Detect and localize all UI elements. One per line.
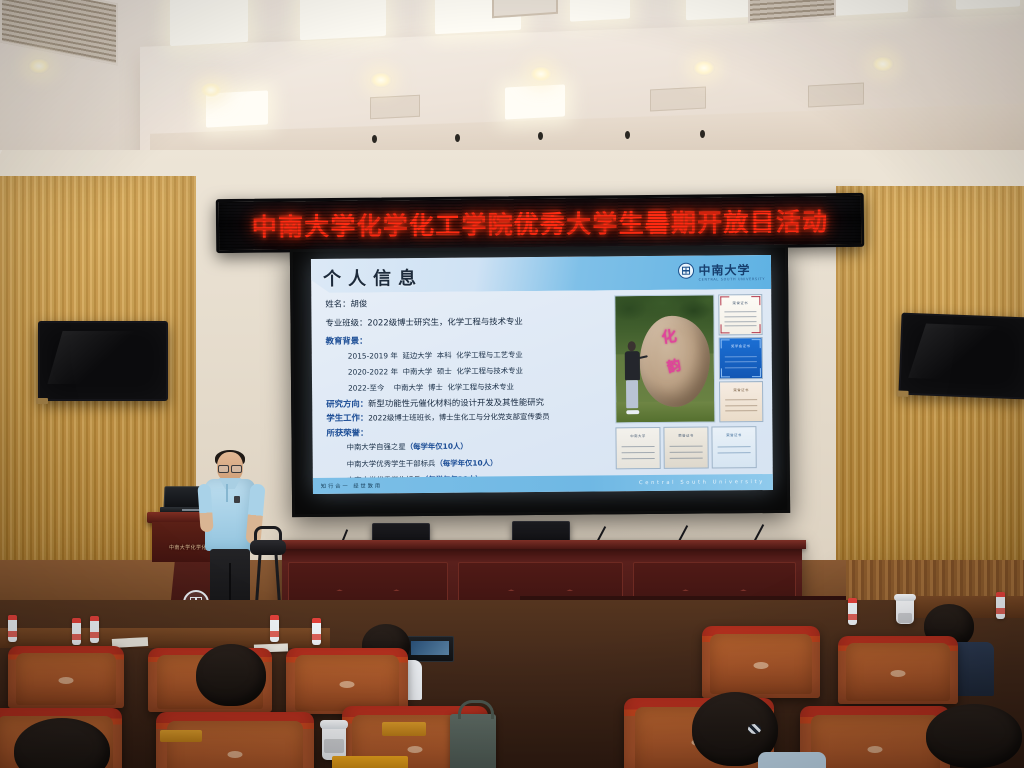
ceiling-panel-light xyxy=(570,0,630,22)
water-bottle xyxy=(270,615,279,642)
seat-logo xyxy=(227,751,242,758)
education-heading: 教育背景： xyxy=(326,333,626,346)
downlight xyxy=(28,58,50,74)
edu-years: 2015-2019 年 xyxy=(348,351,398,360)
cup-band xyxy=(898,613,912,623)
cup-band xyxy=(324,739,344,753)
csu-emblem-icon xyxy=(678,263,694,279)
student-work-value: 2022级博士班班长，博士生化工与分化党支部宣传委员 xyxy=(368,412,549,423)
certificate-image: 荣誉证书 xyxy=(718,294,762,335)
cert-corner xyxy=(752,339,761,348)
cert-corner xyxy=(720,296,729,305)
seat-writing-tablet xyxy=(382,722,426,736)
education-row: 2022-至今 中南大学 博士 化学工程与技术专业 xyxy=(348,380,626,393)
ac-vent-icon xyxy=(0,0,118,65)
coffee-cup xyxy=(896,598,914,624)
cert-caption: 荣誉证书 xyxy=(678,433,694,438)
field-major-class: 专业班级：2022级博士研究生，化学工程与技术专业 xyxy=(325,315,625,328)
downlight xyxy=(693,60,715,76)
field-major-value: 2022级博士研究生，化学工程与技术专业 xyxy=(367,316,522,327)
field-name-label: 姓名： xyxy=(325,299,350,309)
photo-collage: 化 韵 xyxy=(614,294,764,481)
downlight xyxy=(872,56,894,72)
edu-years: 2020-2022 年 xyxy=(348,367,398,376)
cert-caption: 荣誉证书 xyxy=(733,300,749,305)
csu-name-en: CENTRAL SOUTH UNIVERSITY xyxy=(699,277,766,282)
seat-logo xyxy=(58,677,73,684)
field-major-label: 专业班级： xyxy=(325,317,367,327)
ceiling-speaker-dot xyxy=(372,135,377,143)
water-bottle xyxy=(8,615,17,642)
edu-major: 化学工程与技术专业 xyxy=(456,366,523,376)
auditorium-seat xyxy=(838,636,958,704)
tv-mount-foot xyxy=(896,390,908,396)
honors-heading: 所获荣誉： xyxy=(326,425,626,438)
presentation-slide: 个人信息 中南大学 CENTRAL SOUTH UNIVERSITY 姓名：胡俊… xyxy=(311,255,773,494)
ceiling-speaker-dot xyxy=(455,134,460,142)
cert-caption: 荣誉证书 xyxy=(726,432,742,437)
honor-row: 中南大学优秀学生干部标兵（每学年仅10人） xyxy=(347,456,627,469)
slide-body: 姓名：胡俊 专业班级：2022级博士研究生，化学工程与技术专业 教育背景： 20… xyxy=(311,289,773,478)
ceiling-recess xyxy=(370,95,420,120)
honor-note: （每学年仅10人） xyxy=(435,458,497,468)
edu-degree: 硕士 xyxy=(437,366,452,375)
cert-caption: 中南大学 xyxy=(630,433,646,438)
seat-back xyxy=(710,634,811,694)
seat-logo xyxy=(407,746,422,753)
cert-corner xyxy=(751,296,760,305)
ceiling-panel-light xyxy=(505,84,565,119)
water-bottle xyxy=(848,598,857,625)
seat-writing-tablet xyxy=(332,756,408,768)
screen-glare xyxy=(908,323,1003,380)
edu-school: 延边大学 xyxy=(402,350,432,359)
screen-glare xyxy=(47,331,140,384)
glasses-icon xyxy=(218,465,242,471)
edu-school: 中南大学 xyxy=(403,366,433,375)
calligraphy-char: 化 xyxy=(660,325,678,348)
coffee-cup xyxy=(322,724,346,760)
seat-back xyxy=(167,721,303,768)
ceiling-panel-light xyxy=(956,0,1020,10)
ceiling-speaker-dot xyxy=(625,131,630,139)
photo-person-legs xyxy=(626,380,638,408)
honor-title: 中南大学自强之星 xyxy=(347,442,406,452)
seat-back xyxy=(16,653,116,705)
projection-screen: 个人信息 中南大学 CENTRAL SOUTH UNIVERSITY 姓名：胡俊… xyxy=(290,245,790,517)
certificate-image: 荣誉证书 xyxy=(663,427,708,469)
slide-footer: 知行合一 经世致用 Central South University xyxy=(313,474,773,494)
auditorium-seat xyxy=(8,646,124,708)
slide-header: 个人信息 中南大学 CENTRAL SOUTH UNIVERSITY xyxy=(311,255,771,293)
photo-person-torso xyxy=(625,351,640,381)
ceiling-speaker-dot xyxy=(700,130,705,138)
rock-photo: 化 韵 xyxy=(614,294,715,423)
photo-person-head xyxy=(628,342,636,352)
downlight xyxy=(370,72,392,88)
ac-vent-icon xyxy=(748,0,836,23)
edu-school: 中南大学 xyxy=(394,383,424,392)
water-bottle xyxy=(996,592,1005,619)
csu-name-cn: 中南大学 xyxy=(698,263,750,277)
cert-corner xyxy=(721,339,730,348)
edu-years: 2022-至今 xyxy=(348,383,384,392)
audience-head xyxy=(196,644,266,706)
edu-degree: 博士 xyxy=(428,382,443,391)
csu-logo: 中南大学 CENTRAL SOUTH UNIVERSITY xyxy=(678,259,765,282)
ceiling-panel-light xyxy=(300,0,386,40)
downlight xyxy=(200,82,222,98)
ac-vent-icon xyxy=(492,0,558,18)
seat-back xyxy=(846,643,949,700)
photo-person-shoes xyxy=(626,410,639,414)
presenter-pocket xyxy=(234,496,240,503)
seat-back xyxy=(811,715,940,768)
stool-seat xyxy=(250,540,286,555)
research-value: 新型功能性元催化材料的设计开发及其性能研究 xyxy=(368,396,544,408)
cup-lid xyxy=(894,594,916,601)
cert-corner xyxy=(721,368,730,377)
tv-mount-foot xyxy=(36,398,48,404)
audience-head xyxy=(926,704,1022,768)
honor-note: （每学年仅10人） xyxy=(406,442,468,452)
slide-title: 个人信息 xyxy=(323,264,423,291)
audience-area xyxy=(0,600,1024,768)
education-row: 2015-2019 年 延边大学 本科 化学工程与工艺专业 xyxy=(348,348,626,361)
ceiling-panel-light xyxy=(170,0,248,46)
edu-degree: 本科 xyxy=(437,350,452,359)
field-name-value: 胡俊 xyxy=(350,299,367,309)
lecture-hall-photo: 中南大学化学化工学院优秀大学生暑期开放日活动 个人信息 中南大学 CENTRAL… xyxy=(0,0,1024,768)
auditorium-seat xyxy=(702,626,820,698)
presenter xyxy=(203,452,257,622)
student-work-label: 学生工作： xyxy=(326,413,368,423)
certificate-image: 荣誉证书 xyxy=(711,426,756,468)
ceiling-panel-light xyxy=(830,0,908,16)
audience-shirt xyxy=(758,752,826,768)
water-bottle xyxy=(312,618,321,645)
backpack xyxy=(450,714,496,768)
slide-footer-motto: 知行合一 经世致用 xyxy=(321,482,382,490)
education-row: 2020-2022 年 中南大学 硕士 化学工程与技术专业 xyxy=(348,364,626,377)
presenter-placket xyxy=(226,484,228,502)
field-name: 姓名：胡俊 xyxy=(325,296,625,309)
cert-caption: 奖学金证书 xyxy=(731,343,750,348)
honor-title: 中南大学优秀学生干部标兵 xyxy=(347,458,436,468)
seat-back xyxy=(295,655,400,710)
wall-tv-right xyxy=(898,313,1024,400)
cert-corner xyxy=(752,368,761,377)
downlight xyxy=(530,66,552,82)
hair-scrunchie xyxy=(748,724,761,734)
head-table-top xyxy=(278,540,806,549)
student-work-line: 学生工作：2022级博士班班长，博士生化工与分化党支部宣传委员 xyxy=(326,410,626,423)
person-in-photo xyxy=(624,341,639,412)
research-line: 研究方向：新型功能性元催化材料的设计开发及其性能研究 xyxy=(326,396,626,409)
cup-lid xyxy=(320,720,348,729)
slide-footer-university: Central South University xyxy=(639,479,765,486)
certificate-image: 荣誉证书 xyxy=(719,381,763,422)
auditorium-seat xyxy=(286,648,408,714)
seat-logo xyxy=(753,662,768,669)
audience-laptop xyxy=(406,636,454,662)
honor-row: 中南大学自强之星（每学年仅10人） xyxy=(347,439,627,452)
slide-text-column: 姓名：胡俊 专业班级：2022级博士研究生，化学工程与技术专业 教育背景： 20… xyxy=(325,296,627,491)
seat-logo xyxy=(890,670,905,677)
ceiling-speaker-dot xyxy=(538,132,543,140)
certificate-image: 中南大学 xyxy=(615,427,660,469)
edu-major: 化学工程与技术专业 xyxy=(447,382,514,392)
cert-caption: 荣誉证书 xyxy=(733,387,749,392)
water-bottle xyxy=(72,618,81,645)
ceiling-recess xyxy=(808,83,864,108)
water-bottle xyxy=(90,616,99,643)
certificate-image: 奖学金证书 xyxy=(719,337,763,379)
wall-tv-left xyxy=(38,321,168,401)
seat-logo xyxy=(339,681,354,688)
research-label: 研究方向： xyxy=(326,398,368,408)
seat-writing-tablet xyxy=(160,730,202,742)
seat-logo xyxy=(868,746,883,753)
banner-text: 中南大学化学化工学院优秀大学生暑期开放日活动 xyxy=(252,202,829,244)
edu-major: 化学工程与工艺专业 xyxy=(456,350,523,360)
ceiling-recess xyxy=(650,87,706,112)
